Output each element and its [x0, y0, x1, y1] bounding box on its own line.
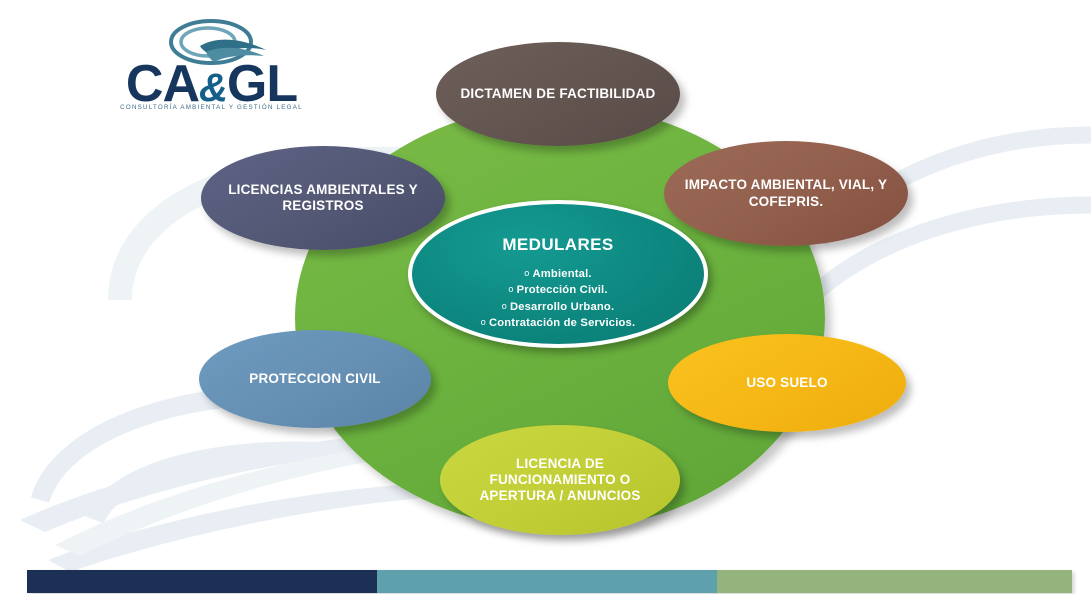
core-list-item: oAmbiental.	[481, 266, 636, 282]
core-item-list: oAmbiental. oProtección Civil. oDesarrol…	[481, 266, 636, 331]
bullet-icon: o	[524, 268, 529, 278]
node-label: LICENCIA DE FUNCIONAMIENTO O APERTURA / …	[454, 456, 666, 505]
node-label: DICTAMEN DE FACTIBILIDAD	[460, 86, 655, 102]
core-item-label: Contratación de Servicios.	[489, 317, 635, 329]
footer-segment-teal	[377, 570, 717, 593]
logo-tagline: CONSULTORÍA AMBIENTAL Y GESTIÓN LEGAL	[104, 104, 319, 111]
node-label: USO SUELO	[746, 375, 827, 391]
core-item-label: Protección Civil.	[517, 284, 608, 296]
core-list-item: oProtección Civil.	[481, 282, 636, 298]
core-list-item: oContratación de Servicios.	[481, 315, 636, 331]
core-ellipse-medulares[interactable]: MEDULARES oAmbiental. oProtección Civil.…	[408, 200, 708, 348]
logo-wordmark: CA&GL	[104, 58, 319, 110]
node-dictamen-factibilidad[interactable]: DICTAMEN DE FACTIBILIDAD	[436, 42, 680, 146]
node-label: LICENCIAS AMBIENTALES Y REGISTROS	[215, 182, 431, 214]
core-title: MEDULARES	[502, 235, 613, 255]
footer-segment-navy	[27, 570, 377, 593]
node-label: IMPACTO AMBIENTAL, VIAL, Y COFEPRIS.	[678, 177, 894, 209]
node-licencia-funcionamiento[interactable]: LICENCIA DE FUNCIONAMIENTO O APERTURA / …	[440, 425, 680, 535]
node-uso-suelo[interactable]: USO SUELO	[668, 334, 906, 432]
core-list-item: oDesarrollo Urbano.	[481, 299, 636, 315]
bullet-icon: o	[508, 284, 513, 294]
node-licencias-ambientales[interactable]: LICENCIAS AMBIENTALES Y REGISTROS	[201, 146, 445, 250]
node-impacto-ambiental[interactable]: IMPACTO AMBIENTAL, VIAL, Y COFEPRIS.	[664, 141, 908, 246]
core-item-label: Desarrollo Urbano.	[510, 301, 614, 313]
footer-segment-sage	[717, 570, 1072, 593]
core-item-label: Ambiental.	[533, 268, 592, 280]
node-label: PROTECCION CIVIL	[249, 371, 380, 387]
bullet-icon: o	[502, 301, 507, 311]
cagl-logo: CA&GL CONSULTORÍA AMBIENTAL Y GESTIÓN LE…	[104, 18, 319, 110]
node-proteccion-civil[interactable]: PROTECCION CIVIL	[199, 330, 431, 428]
bullet-icon: o	[481, 317, 486, 327]
footer-bar	[27, 570, 1072, 593]
slide-canvas: CA&GL CONSULTORÍA AMBIENTAL Y GESTIÓN LE…	[0, 0, 1091, 594]
